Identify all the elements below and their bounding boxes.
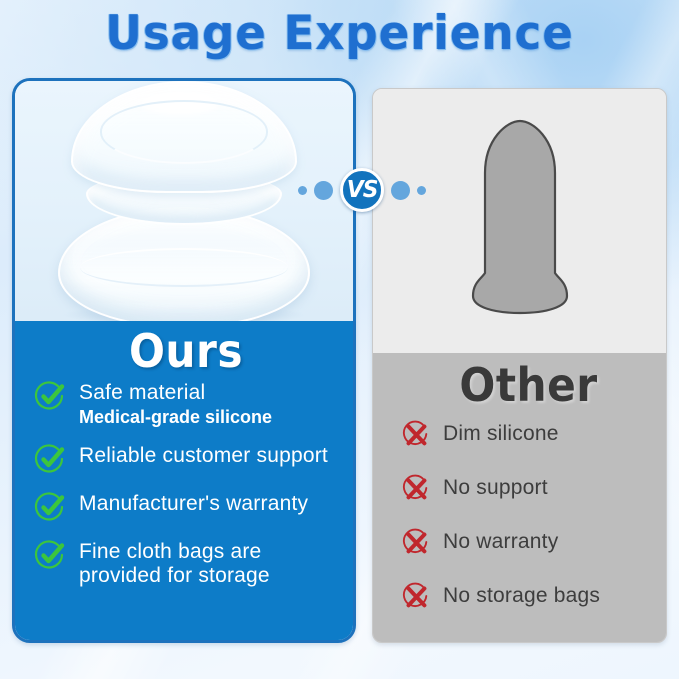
list-item-label: Reliable customer support: [79, 444, 328, 468]
list-item: Dim silicone: [401, 419, 656, 449]
list-item: Safe material Medical-grade silicone: [33, 381, 339, 427]
list-item-label: Manufacturer's warranty: [79, 492, 308, 516]
versus-label: VS: [347, 177, 378, 203]
versus-circle: VS: [340, 168, 384, 212]
list-item: No storage bags: [401, 581, 656, 611]
list-item: No warranty: [401, 527, 656, 557]
list-item-label: Safe material Medical-grade silicone: [79, 381, 272, 427]
list-item: Manufacturer's warranty: [33, 492, 339, 524]
cross-circle-icon: [401, 527, 431, 557]
ours-heading: Ours: [45, 327, 327, 375]
page-title: Usage Experience: [14, 6, 666, 61]
list-item-label: No support: [443, 476, 548, 500]
list-item-label: No storage bags: [443, 584, 600, 608]
comparison-infographic: Usage Experience Ours S: [0, 0, 679, 679]
other-heading: Other: [411, 361, 646, 409]
ours-content: Ours Safe material Medical-grade silicon…: [15, 321, 353, 640]
ours-panel: Ours Safe material Medical-grade silicon…: [12, 78, 356, 643]
check-circle-icon: [33, 442, 67, 476]
cross-circle-icon: [401, 419, 431, 449]
list-item: Fine cloth bags are provided for storage: [33, 540, 339, 589]
list-item-label: Fine cloth bags are provided for storage: [79, 540, 339, 589]
cross-circle-icon: [401, 473, 431, 503]
list-item-label: Dim silicone: [443, 422, 559, 446]
versus-dot-small-left: [298, 186, 307, 195]
versus-dot-medium-right: [391, 181, 410, 200]
list-item-label: No warranty: [443, 530, 558, 554]
versus-dot-medium-left: [314, 181, 333, 200]
list-item: Reliable customer support: [33, 444, 339, 476]
versus-dot-small-right: [417, 186, 426, 195]
other-content: Other Dim silicone: [373, 353, 666, 642]
gray-cup-silhouette: [445, 111, 595, 321]
cup-dome-shape: [71, 81, 297, 193]
versus-badge: VS: [288, 168, 436, 212]
cross-circle-icon: [401, 581, 431, 611]
check-circle-icon: [33, 490, 67, 524]
other-product-photo: [373, 89, 666, 353]
check-circle-icon: [33, 379, 67, 413]
list-item: No support: [401, 473, 656, 503]
ours-feature-list: Safe material Medical-grade silicone Rel…: [33, 381, 339, 588]
check-circle-icon: [33, 538, 67, 572]
other-feature-list: Dim silicone No support: [401, 419, 656, 611]
list-item-sublabel: Medical-grade silicone: [79, 407, 272, 428]
